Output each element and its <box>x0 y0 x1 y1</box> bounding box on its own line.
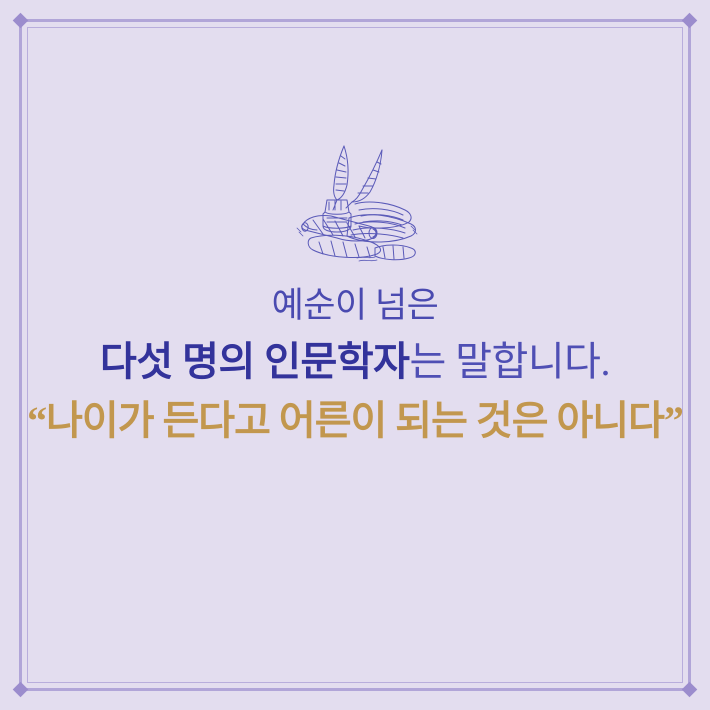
quote-card: 예순이 넘은 다섯 명의 인문학자는 말합니다. “나이가 든다고 어른이 되는… <box>0 0 710 710</box>
headline-line-2-rest: 는 말합니다. <box>409 339 610 384</box>
headline-line-2: 다섯 명의 인문학자는 말합니다. <box>0 342 710 382</box>
quote-line: “나이가 든다고 어른이 되는 것은 아니다” <box>0 401 710 441</box>
quill-inkwell-scrolls-illustration <box>289 140 421 266</box>
card-content: 예순이 넘은 다섯 명의 인문학자는 말합니다. “나이가 든다고 어른이 되는… <box>0 0 710 710</box>
headline-line-2-emphasis: 다섯 명의 인문학자 <box>100 339 409 384</box>
quote-text-block: 예순이 넘은 다섯 명의 인문학자는 말합니다. “나이가 든다고 어른이 되는… <box>0 288 710 441</box>
headline-line-1: 예순이 넘은 <box>0 288 710 323</box>
